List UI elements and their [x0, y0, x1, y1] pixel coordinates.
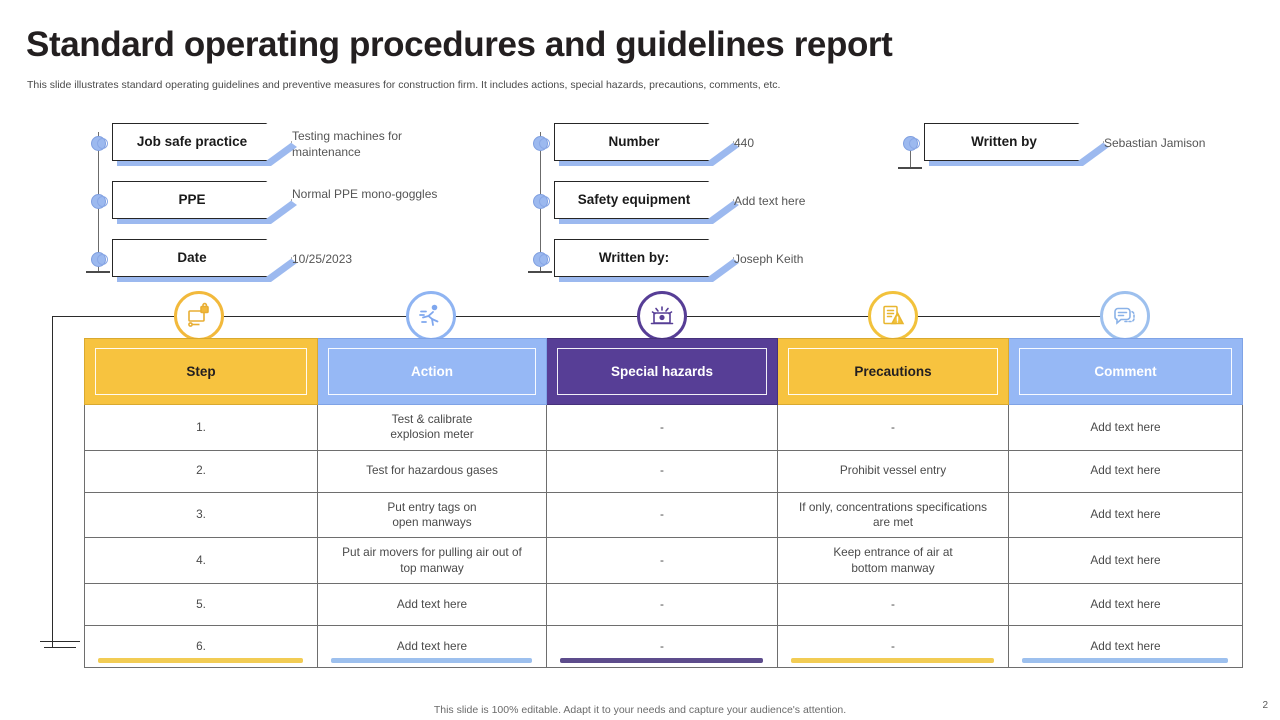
- spine-dot-3: [533, 252, 548, 267]
- table-cell[interactable]: 5.: [85, 583, 318, 625]
- table-cell[interactable]: Put air movers for pulling air out oftop…: [318, 538, 547, 584]
- chevron-label: Job safe practice: [137, 134, 247, 150]
- table-header-action[interactable]: Action: [318, 339, 547, 405]
- chevron-body: PPE: [112, 181, 292, 219]
- spine-foot: [898, 167, 922, 169]
- table-row: 1.Test & calibrateexplosion meter--Add t…: [85, 405, 1243, 451]
- info-value-job-safe-practice: Testing machines for maintenance: [292, 128, 442, 160]
- table-row: 2.Test for hazardous gases-Prohibit vess…: [85, 450, 1243, 492]
- running-person-icon: [406, 291, 456, 341]
- info-chevron-job-safe-practice[interactable]: Job safe practice: [112, 123, 292, 161]
- page-subtitle: This slide illustrates standard operatin…: [27, 79, 780, 91]
- info-value-written-by-right: Sebastian Jamison: [1104, 135, 1280, 151]
- footer-note: This slide is 100% editable. Adapt it to…: [0, 704, 1280, 716]
- timeline-spine-middle: [526, 120, 556, 280]
- spine-dot-1: [533, 136, 548, 151]
- chevron-label: Date: [177, 250, 206, 266]
- chevron-body: Written by: [924, 123, 1104, 161]
- header-inner-border: Special hazards: [557, 348, 767, 395]
- column-accent-bar: [98, 658, 303, 663]
- table-cell[interactable]: 1.: [85, 405, 318, 451]
- table-cell[interactable]: 2.: [85, 450, 318, 492]
- table-cell[interactable]: Prohibit vessel entry: [778, 450, 1009, 492]
- slide-root: Standard operating procedures and guidel…: [0, 0, 1280, 720]
- table-cell[interactable]: Test & calibrateexplosion meter: [318, 405, 547, 451]
- table-header-row: Step Action Special hazards: [85, 339, 1243, 405]
- chevron-label: Written by: [971, 134, 1037, 150]
- info-value-ppe: Normal PPE mono-goggles: [292, 186, 442, 202]
- chevron-body: Written by:: [554, 239, 734, 277]
- info-chevron-date[interactable]: Date: [112, 239, 292, 277]
- spine-dot-1: [903, 136, 918, 151]
- chevron-body: Job safe practice: [112, 123, 292, 161]
- column-accent-bar: [560, 658, 763, 663]
- clipboard-warning-icon: [868, 291, 918, 341]
- chevron-body: Number: [554, 123, 734, 161]
- table-cell[interactable]: -: [547, 405, 778, 451]
- table-cell[interactable]: Add text here: [1009, 583, 1243, 625]
- table-cell[interactable]: If only, concentrations specificationsar…: [778, 492, 1009, 538]
- header-label: Comment: [1094, 364, 1156, 379]
- column-accent-bars: [84, 658, 1242, 663]
- header-inner-border: Step: [95, 348, 307, 395]
- info-chevron-written-by-right[interactable]: Written by: [924, 123, 1104, 161]
- table-cell[interactable]: -: [547, 583, 778, 625]
- table-cell[interactable]: -: [547, 538, 778, 584]
- timeline-spine-left: [84, 120, 114, 280]
- spine-dot-2: [91, 194, 106, 209]
- info-value-date: 10/25/2023: [292, 251, 442, 267]
- table-cell[interactable]: 4.: [85, 538, 318, 584]
- table-body: 1.Test & calibrateexplosion meter--Add t…: [85, 405, 1243, 668]
- column-accent-bar: [1022, 658, 1228, 663]
- spine-foot: [86, 271, 110, 273]
- table-cell[interactable]: Keep entrance of air atbottom manway: [778, 538, 1009, 584]
- safety-lock-icon: [174, 291, 224, 341]
- column-accent-bar: [791, 658, 994, 663]
- table-cell[interactable]: Add text here: [1009, 405, 1243, 451]
- header-inner-border: Comment: [1019, 348, 1232, 395]
- info-group-right: Written by Sebastian Jamison: [896, 120, 1266, 180]
- chevron-body: Date: [112, 239, 292, 277]
- table-cell[interactable]: -: [547, 492, 778, 538]
- header-label: Action: [411, 364, 453, 379]
- page-title: Standard operating procedures and guidel…: [26, 25, 892, 65]
- timeline-spine-right: [896, 120, 926, 180]
- sop-table-wrapper: Step Action Special hazards: [84, 338, 1242, 668]
- info-value-written-by: Joseph Keith: [734, 251, 884, 267]
- table-row: 5.Add text here--Add text here: [85, 583, 1243, 625]
- left-bracket-connector: [40, 316, 86, 648]
- table-row: 4.Put air movers for pulling air out oft…: [85, 538, 1243, 584]
- info-value-number: 440: [734, 135, 884, 151]
- hazard-laptop-icon: [637, 291, 687, 341]
- table-row: 3.Put entry tags onopen manways-If only,…: [85, 492, 1243, 538]
- table-header-precautions[interactable]: Precautions: [778, 339, 1009, 405]
- chevron-label: Number: [608, 134, 659, 150]
- page-number: 2: [1262, 700, 1268, 711]
- table-header-comment[interactable]: Comment: [1009, 339, 1243, 405]
- table-cell[interactable]: -: [547, 450, 778, 492]
- table-cell[interactable]: 3.: [85, 492, 318, 538]
- table-cell[interactable]: Test for hazardous gases: [318, 450, 547, 492]
- table-cell[interactable]: -: [778, 405, 1009, 451]
- spine-dot-1: [91, 136, 106, 151]
- table-cell[interactable]: Add text here: [1009, 450, 1243, 492]
- header-label: Step: [186, 364, 215, 379]
- info-group-left: Job safe practice Testing machines for m…: [84, 120, 524, 280]
- chevron-body: Safety equipment: [554, 181, 734, 219]
- column-accent-bar: [331, 658, 533, 663]
- header-label: Special hazards: [611, 364, 713, 379]
- info-chevron-ppe[interactable]: PPE: [112, 181, 292, 219]
- header-inner-border: Precautions: [788, 348, 998, 395]
- table-header-special-hazards[interactable]: Special hazards: [547, 339, 778, 405]
- header-label: Precautions: [854, 364, 931, 379]
- spine-dot-2: [533, 194, 548, 209]
- sop-table: Step Action Special hazards: [84, 338, 1243, 668]
- info-chevron-written-by[interactable]: Written by:: [554, 239, 734, 277]
- bracket-vertical: [52, 316, 53, 648]
- spine-dot-3: [91, 252, 106, 267]
- chevron-label: PPE: [178, 192, 205, 208]
- bracket-foot-bottom: [44, 647, 76, 649]
- chevron-label: Written by:: [599, 250, 669, 266]
- comment-bubble-icon: [1100, 291, 1150, 341]
- table-cell[interactable]: Add text here: [318, 583, 547, 625]
- table-cell[interactable]: Add text here: [1009, 538, 1243, 584]
- header-inner-border: Action: [328, 348, 536, 395]
- table-cell[interactable]: Add text here: [1009, 492, 1243, 538]
- info-chevron-number[interactable]: Number: [554, 123, 734, 161]
- bracket-foot-top: [40, 641, 80, 643]
- table-cell[interactable]: -: [778, 583, 1009, 625]
- info-value-safety-equipment: Add text here: [734, 193, 884, 209]
- info-chevron-safety-equipment[interactable]: Safety equipment: [554, 181, 734, 219]
- chevron-label: Safety equipment: [578, 192, 691, 208]
- spine-foot: [528, 271, 552, 273]
- table-header-step[interactable]: Step: [85, 339, 318, 405]
- table-cell[interactable]: Put entry tags onopen manways: [318, 492, 547, 538]
